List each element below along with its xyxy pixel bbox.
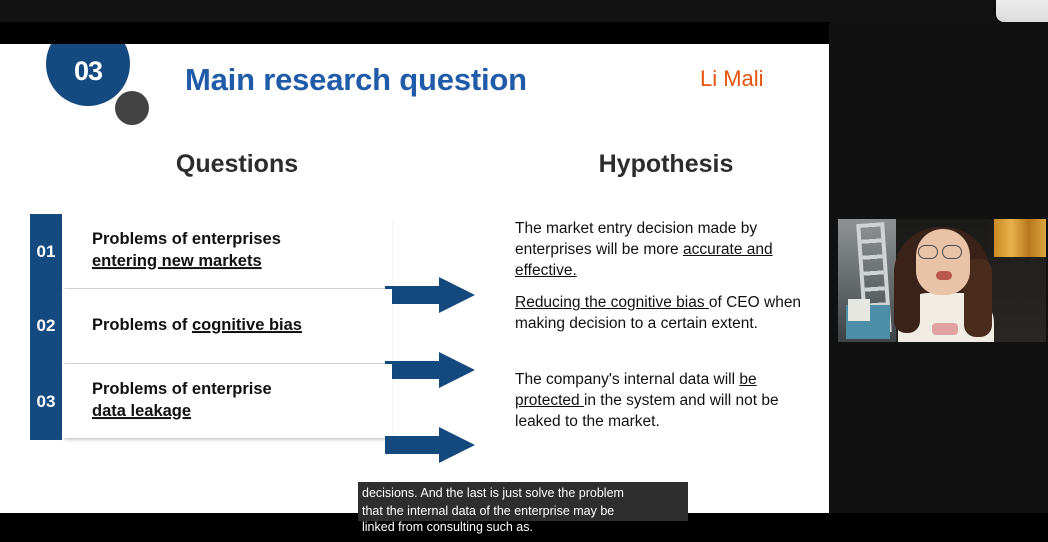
person-face bbox=[916, 229, 970, 295]
glasses-left-lens bbox=[918, 245, 938, 259]
row-number-rail: 01 02 03 bbox=[30, 214, 62, 440]
presenter-name: Li Mali bbox=[700, 66, 764, 92]
window-top-strip bbox=[0, 0, 1048, 22]
question-text-02: Problems of cognitive bias bbox=[92, 315, 382, 337]
person-mouth bbox=[936, 271, 952, 280]
row-number-01: 01 bbox=[30, 242, 62, 262]
slide-section-badge: 03 bbox=[46, 44, 130, 106]
slide-section-number: 03 bbox=[46, 56, 130, 87]
hypothesis-text-01: The market entry decision made by enterp… bbox=[515, 219, 815, 282]
hypothesis-pre-03: The company's internal data will bbox=[515, 371, 739, 388]
question-text-01: Problems of enterprises entering new mar… bbox=[92, 229, 382, 273]
caption-box: decisions. And the last is just solve th… bbox=[358, 482, 688, 521]
presenter-video-tile[interactable] bbox=[838, 219, 1046, 342]
side-panel-peek[interactable] bbox=[996, 0, 1048, 22]
table-row: Problems of enterprise data leakage bbox=[62, 364, 392, 438]
question-underline: cognitive bias bbox=[192, 316, 302, 334]
question-line2: data leakage bbox=[92, 402, 191, 420]
decorative-dot bbox=[115, 91, 149, 125]
caption-line-1: decisions. And the last is just solve th… bbox=[362, 484, 684, 502]
caption-line-3: linked from consulting such as. bbox=[362, 518, 533, 536]
table-row: Problems of enterprises entering new mar… bbox=[62, 214, 392, 288]
right-arrow-icon bbox=[385, 275, 475, 315]
question-text-03: Problems of enterprise data leakage bbox=[92, 379, 382, 423]
screen-root: 03 Main research question Li Mali Questi… bbox=[0, 0, 1048, 542]
hypothesis-text-03: The company's internal data will be prot… bbox=[515, 370, 815, 433]
page-title: Main research question bbox=[185, 62, 605, 98]
question-line1: Problems of enterprise bbox=[92, 380, 272, 398]
hypothesis-underlined-02: Reducing the cognitive bias bbox=[515, 294, 709, 311]
row-number-03: 03 bbox=[30, 392, 62, 412]
right-arrow-icon bbox=[385, 425, 475, 465]
presentation-slide[interactable]: 03 Main research question Li Mali Questi… bbox=[0, 44, 829, 513]
glasses-right-lens bbox=[942, 245, 962, 259]
video-curtain bbox=[994, 219, 1046, 257]
question-line1: Problems of enterprises bbox=[92, 230, 281, 248]
video-box-white bbox=[848, 299, 870, 321]
table-row: Problems of cognitive bias bbox=[62, 289, 392, 363]
column-header-hypothesis: Hypothesis bbox=[590, 150, 742, 179]
column-header-questions: Questions bbox=[168, 150, 306, 179]
shirt-print bbox=[932, 323, 958, 335]
hypothesis-text-02: Reducing the cognitive bias of CEO when … bbox=[515, 293, 815, 335]
slide-letterbox-top bbox=[0, 22, 829, 44]
question-line1: Problems of bbox=[92, 316, 192, 334]
right-arrow-icon bbox=[385, 350, 475, 390]
row-number-02: 02 bbox=[30, 316, 62, 336]
question-line2: entering new markets bbox=[92, 252, 262, 270]
